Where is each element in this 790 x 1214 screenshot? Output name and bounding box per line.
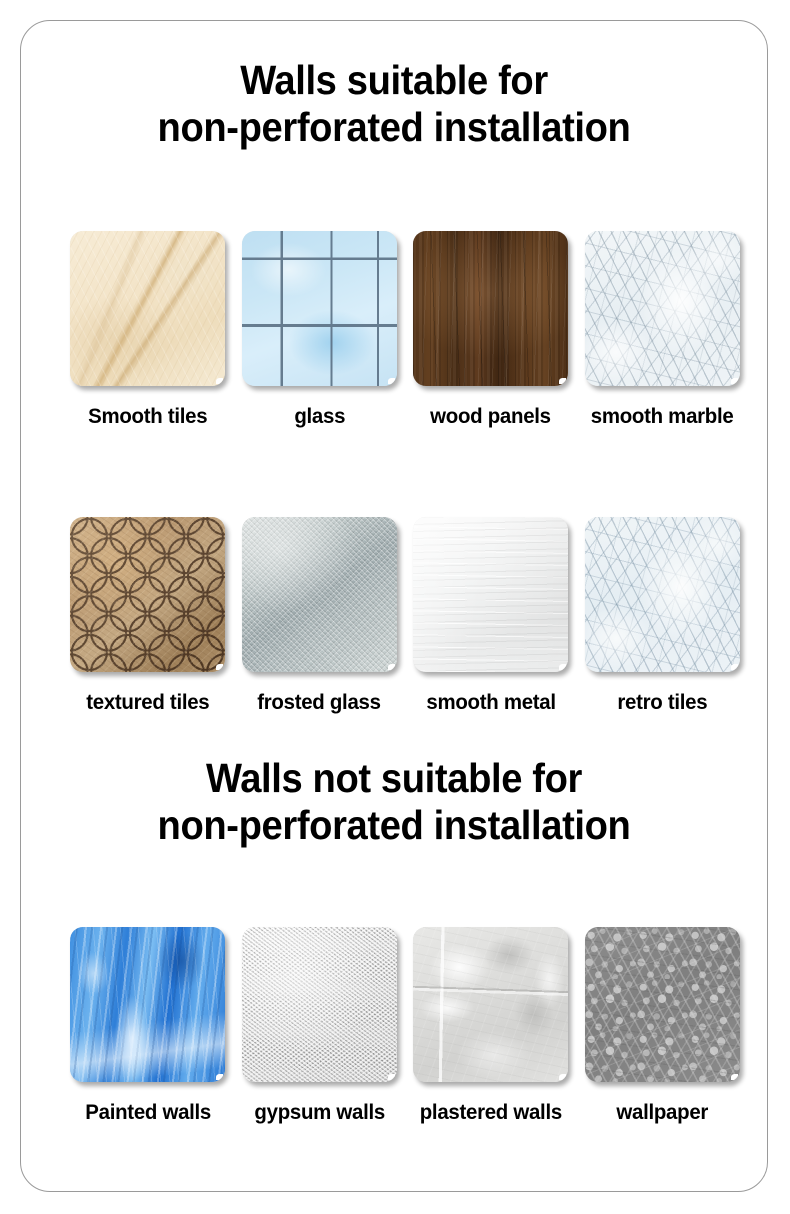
swatch-label: plastered walls bbox=[420, 1100, 562, 1125]
swatch-image-frosted-glass bbox=[242, 517, 397, 672]
dark-brown-wood-texture bbox=[413, 231, 568, 386]
swatch-image-wood-panels bbox=[413, 231, 568, 386]
swatch-image-plastered-walls bbox=[413, 927, 568, 1082]
swatch-row-suitable-1: Smooth tiles glass wood panels smooth ma… bbox=[62, 231, 748, 429]
swatch-cell-wallpaper: wallpaper bbox=[577, 927, 749, 1125]
white-brushed-metal-texture bbox=[413, 517, 568, 672]
swatch-cell-gypsum-walls: gypsum walls bbox=[234, 927, 406, 1125]
swatch-row-not-suitable-1: Painted walls gypsum walls plastered wal… bbox=[62, 927, 748, 1125]
cream-marble-tile-texture bbox=[70, 231, 225, 386]
swatch-cell-painted-walls: Painted walls bbox=[62, 927, 234, 1125]
white-grey-marble-texture bbox=[585, 231, 740, 386]
swatch-cell-textured-tiles: textured tiles bbox=[62, 517, 234, 715]
swatch-cell-frosted-glass: frosted glass bbox=[234, 517, 406, 715]
heading-line-1: Walls suitable for bbox=[47, 57, 741, 104]
swatch-cell-smooth-tiles: Smooth tiles bbox=[62, 231, 234, 429]
swatch-image-textured-tiles bbox=[70, 517, 225, 672]
swatch-image-smooth-metal bbox=[413, 517, 568, 672]
swatch-row-suitable-2: textured tiles frosted glass smooth meta… bbox=[62, 517, 748, 715]
white-stippled-gypsum-texture bbox=[242, 927, 397, 1082]
swatch-image-painted-walls bbox=[70, 927, 225, 1082]
swatch-label: smooth marble bbox=[591, 404, 734, 429]
grey-patchy-plaster-texture bbox=[413, 927, 568, 1082]
swatch-image-wallpaper bbox=[585, 927, 740, 1082]
grey-floral-wallpaper-texture bbox=[585, 927, 740, 1082]
swatch-cell-retro-tiles: retro tiles bbox=[577, 517, 749, 715]
swatch-label: retro tiles bbox=[617, 690, 707, 715]
section-heading-suitable: Walls suitable for non-perforated instal… bbox=[47, 57, 741, 151]
heading-line-1: Walls not suitable for bbox=[47, 755, 741, 802]
swatch-image-smooth-marble bbox=[585, 231, 740, 386]
swatch-label: frosted glass bbox=[258, 690, 381, 715]
tan-quatrefoil-tile-texture bbox=[70, 517, 225, 672]
swatch-cell-smooth-metal: smooth metal bbox=[405, 517, 577, 715]
swatch-cell-glass: glass bbox=[234, 231, 406, 429]
swatch-cell-smooth-marble: smooth marble bbox=[577, 231, 749, 429]
swatch-image-glass bbox=[242, 231, 397, 386]
swatch-label: Painted walls bbox=[85, 1100, 211, 1125]
swatch-label: Smooth tiles bbox=[88, 404, 207, 429]
blue-painted-wall-texture bbox=[70, 927, 225, 1082]
swatch-image-smooth-tiles bbox=[70, 231, 225, 386]
swatch-label: wood panels bbox=[430, 404, 551, 429]
swatch-label: smooth metal bbox=[426, 690, 555, 715]
swatch-label: wallpaper bbox=[616, 1100, 708, 1125]
swatch-label: gypsum walls bbox=[254, 1100, 385, 1125]
heading-line-2: non-perforated installation bbox=[47, 104, 741, 151]
grey-frosted-glass-texture bbox=[242, 517, 397, 672]
heading-line-2: non-perforated installation bbox=[47, 802, 741, 849]
swatch-cell-wood-panels: wood panels bbox=[405, 231, 577, 429]
swatch-image-gypsum-walls bbox=[242, 927, 397, 1082]
section-heading-not-suitable: Walls not suitable for non-perforated in… bbox=[47, 755, 741, 849]
swatch-cell-plastered-walls: plastered walls bbox=[405, 927, 577, 1125]
swatch-image-retro-tiles bbox=[585, 517, 740, 672]
infographic-card: Walls suitable for non-perforated instal… bbox=[20, 20, 768, 1192]
swatch-label: textured tiles bbox=[86, 690, 209, 715]
swatch-label: glass bbox=[294, 404, 345, 429]
blue-gridded-glass-texture bbox=[242, 231, 397, 386]
pale-blue-marble-tile-texture bbox=[585, 517, 740, 672]
